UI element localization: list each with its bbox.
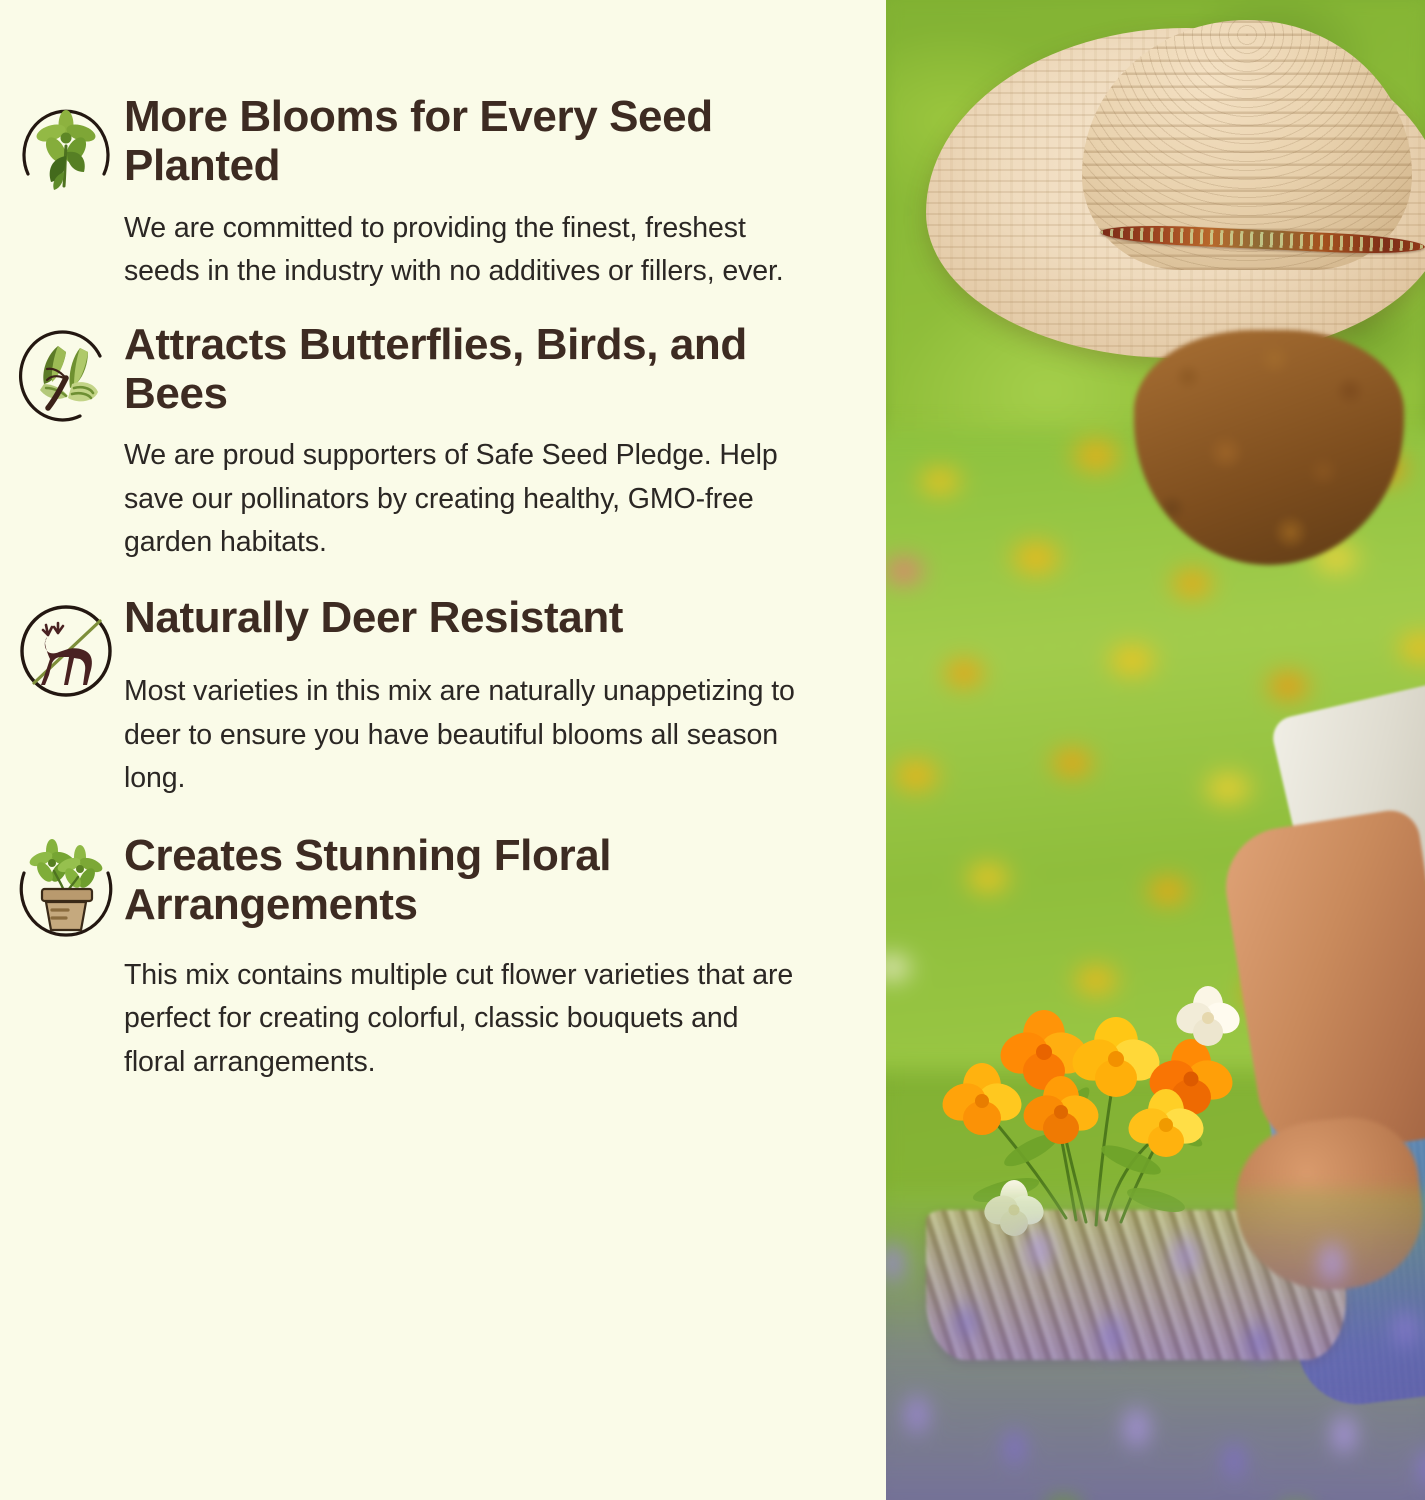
feature-text: More Blooms for Every Seed Planted We ar… bbox=[124, 92, 834, 294]
butterfly-icon bbox=[8, 320, 124, 430]
feature-item-attracts-pollinators: Attracts Butterflies, Birds, and Bees We… bbox=[8, 320, 834, 565]
feature-text: Naturally Deer Resistant Most varieties … bbox=[124, 593, 834, 801]
feature-title: Naturally Deer Resistant bbox=[124, 593, 804, 642]
feature-description: This mix contains multiple cut flower va… bbox=[124, 954, 804, 1085]
purple-wildflowers bbox=[886, 1190, 1425, 1500]
product-feature-panel: More Blooms for Every Seed Planted We ar… bbox=[0, 0, 1425, 1500]
potted-flowers-icon bbox=[8, 831, 124, 941]
feature-description: Most varieties in this mix are naturally… bbox=[124, 670, 804, 801]
feature-item-more-blooms: More Blooms for Every Seed Planted We ar… bbox=[8, 92, 834, 294]
lifestyle-photo bbox=[886, 0, 1425, 1500]
feature-item-floral-arrangements: Creates Stunning Floral Arrangements Thi… bbox=[8, 831, 834, 1084]
feature-item-deer-resistant: Naturally Deer Resistant Most varieties … bbox=[8, 593, 834, 801]
flower-sprout-icon bbox=[8, 92, 124, 202]
feature-title: Attracts Butterflies, Birds, and Bees bbox=[124, 320, 804, 419]
feature-title: More Blooms for Every Seed Planted bbox=[124, 92, 804, 191]
feature-title: Creates Stunning Floral Arrangements bbox=[124, 831, 804, 930]
features-column: More Blooms for Every Seed Planted We ar… bbox=[0, 0, 886, 1500]
feature-text: Creates Stunning Floral Arrangements Thi… bbox=[124, 831, 834, 1084]
feature-text: Attracts Butterflies, Birds, and Bees We… bbox=[124, 320, 834, 565]
feature-description: We are proud supporters of Safe Seed Ple… bbox=[124, 434, 804, 565]
feature-description: We are committed to providing the finest… bbox=[124, 207, 804, 294]
no-deer-icon bbox=[8, 593, 124, 703]
